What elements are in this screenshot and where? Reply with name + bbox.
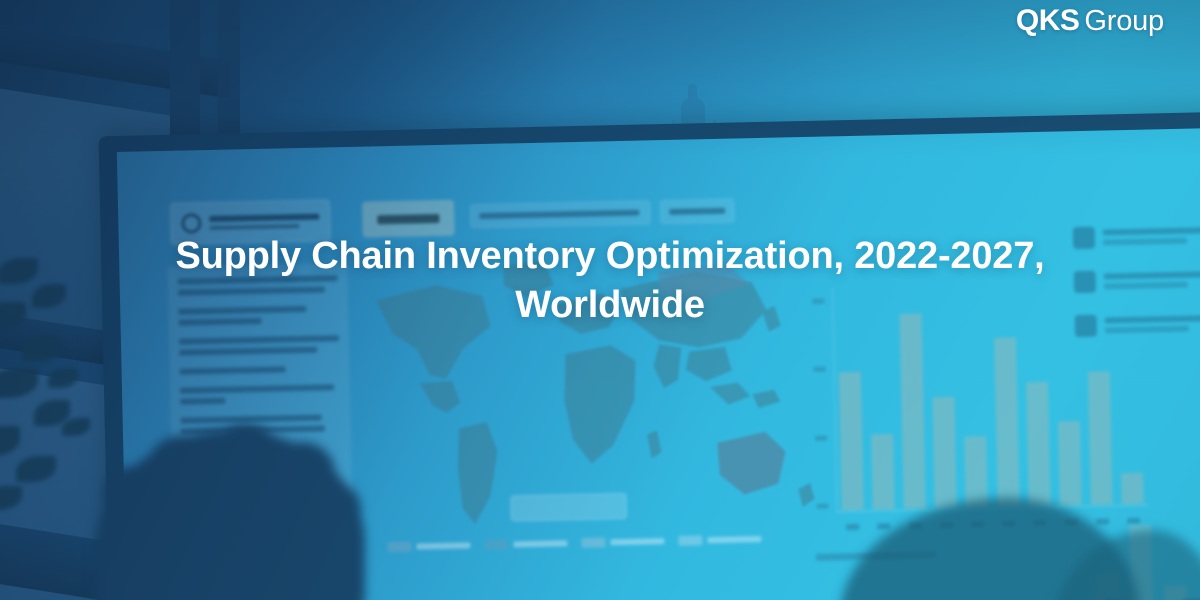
brand-logo: QKS Group: [1016, 4, 1164, 38]
brand-name-light: Group: [1084, 5, 1164, 38]
page-title: Supply Chain Inventory Optimization, 202…: [150, 232, 1070, 329]
brand-name-bold: QKS: [1016, 4, 1080, 38]
hero-banner: QKS Group Supply Chain Inventory Optimiz…: [0, 0, 1200, 600]
